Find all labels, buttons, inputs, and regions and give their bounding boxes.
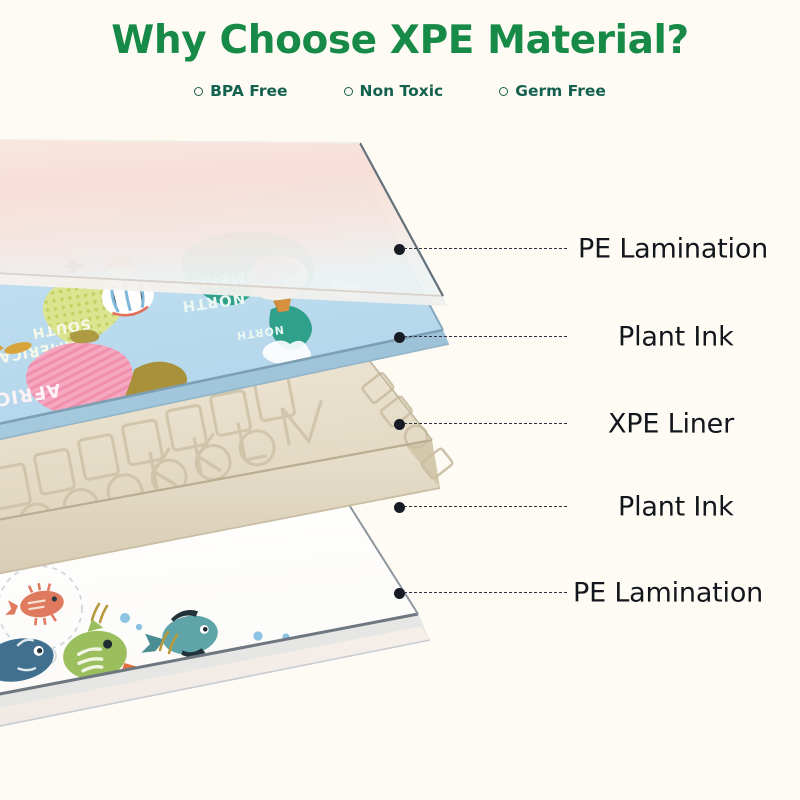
circle-outline-icon: [499, 87, 508, 96]
callout-label: Plant Ink: [618, 322, 734, 353]
exploded-layer-stack: SOUTH AMERICA AMERICA NORTH NORTH AFRICA: [0, 0, 800, 800]
infographic-canvas: SOUTH AMERICA AMERICA NORTH NORTH AFRICA: [0, 0, 800, 800]
callout-leader-line: [404, 248, 567, 249]
callout-dot: [394, 332, 405, 343]
badge-label: Non Toxic: [360, 82, 444, 100]
badge-germ-free: Germ Free: [499, 82, 606, 100]
callout-dot: [394, 502, 405, 513]
callout-leader-line: [404, 336, 567, 337]
badge-label: BPA Free: [210, 82, 287, 100]
layer-pe-lamination-top: [0, 138, 447, 306]
callout-dot: [394, 588, 405, 599]
callout-dot: [394, 244, 405, 255]
callout-leader-line: [404, 592, 567, 593]
circle-outline-icon: [194, 87, 203, 96]
callout-leader-line: [404, 423, 567, 424]
badge-non-toxic: Non Toxic: [344, 82, 444, 100]
circle-outline-icon: [344, 87, 353, 96]
callout-dot: [394, 419, 405, 430]
badge-label: Germ Free: [515, 82, 606, 100]
callout-label: XPE Liner: [608, 409, 734, 440]
callout-label: PE Lamination: [573, 578, 763, 609]
page-title: Why Choose XPE Material?: [0, 18, 800, 63]
callout-leader-line: [404, 506, 567, 507]
callout-label: PE Lamination: [578, 234, 768, 265]
badge-row: BPA Free Non Toxic Germ Free: [0, 82, 800, 100]
badge-bpa-free: BPA Free: [194, 82, 287, 100]
callout-label: Plant Ink: [618, 492, 734, 523]
